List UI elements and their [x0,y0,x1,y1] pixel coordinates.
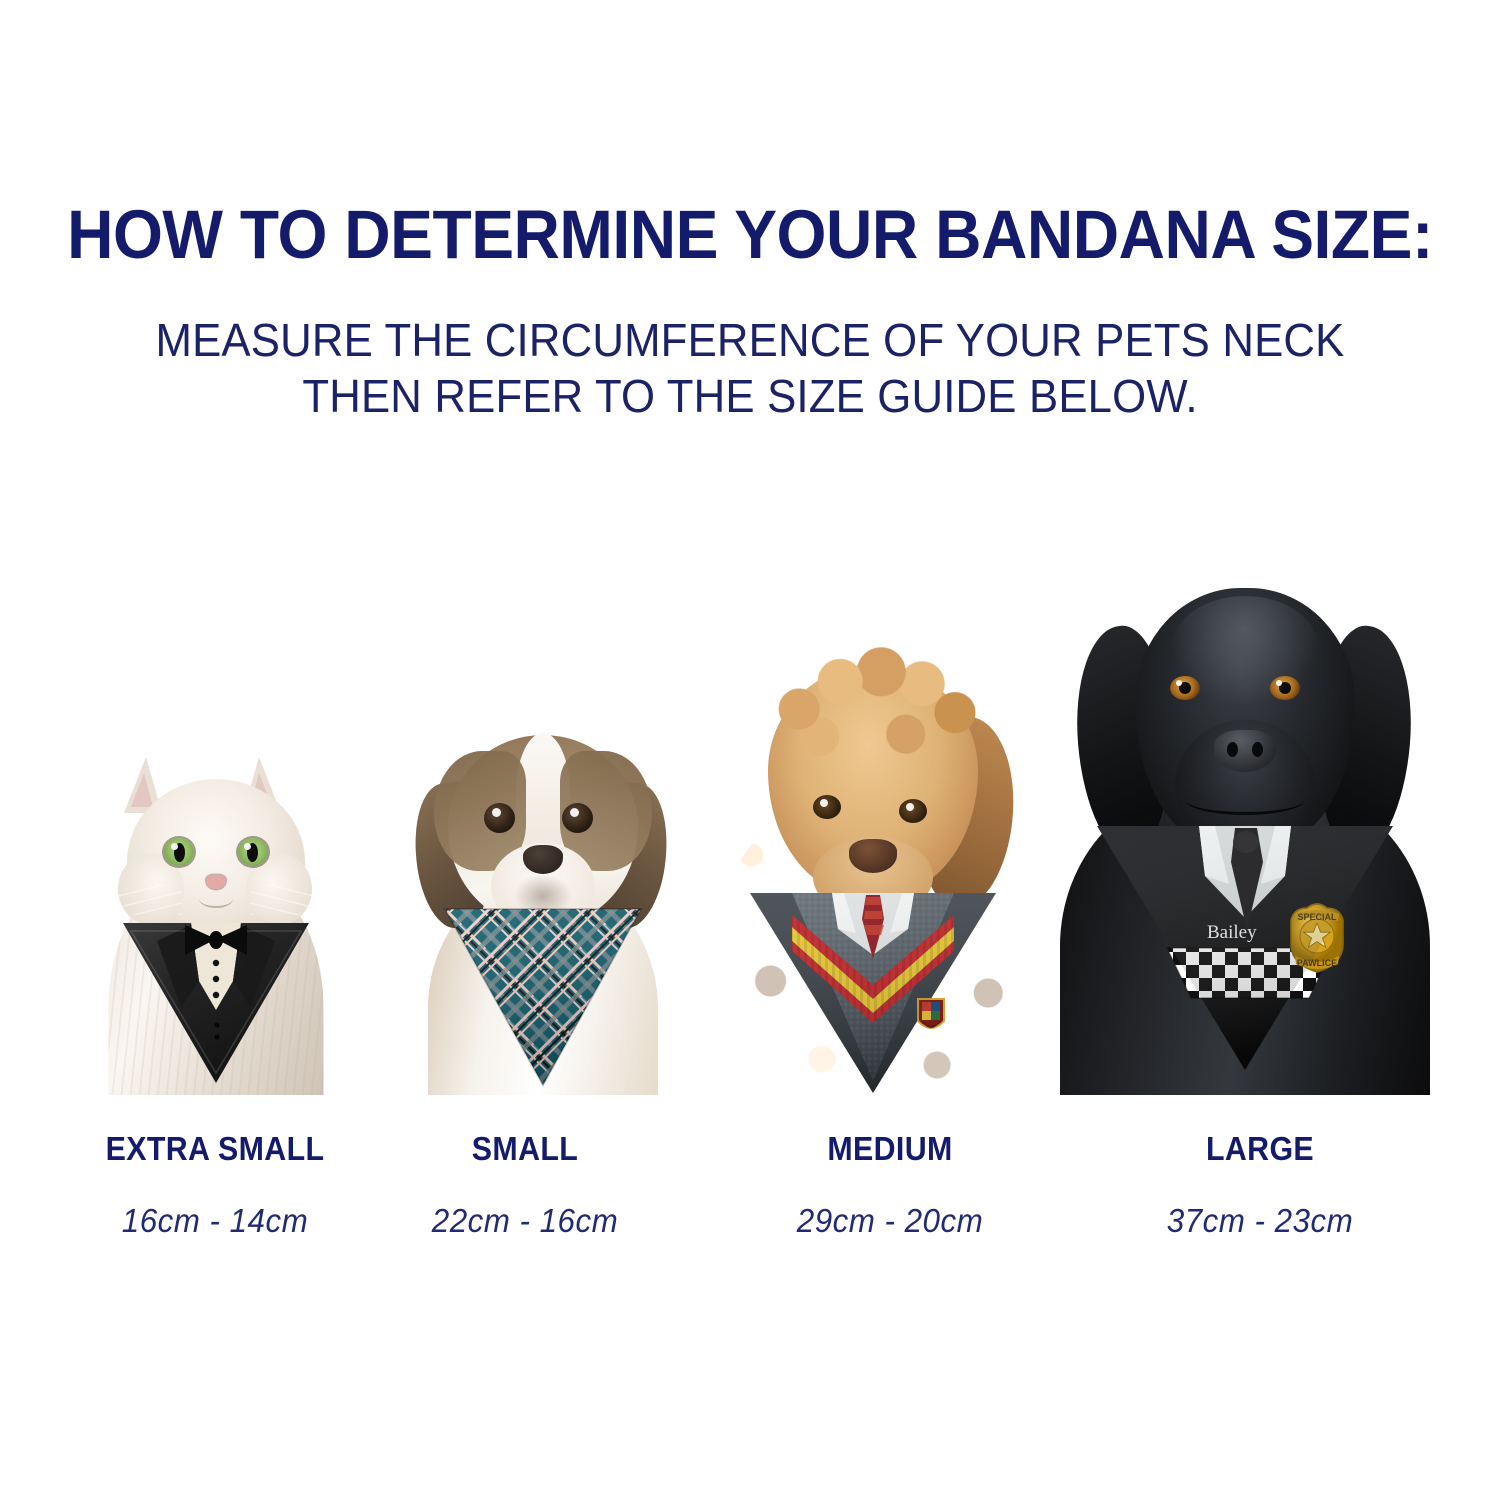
cat-whiskers-left [114,885,182,915]
lab-nostril-left [1227,742,1238,757]
size-range-large: 37cm - 23cm [1118,1202,1403,1240]
size-range-extra-small: 16cm - 14cm [73,1202,358,1240]
size-name-large: LARGE [1122,1130,1398,1168]
bandana-police: Bailey SPECIAL PAWLICE [1095,822,1395,1072]
size-name-extra-small: EXTRA SMALL [77,1130,353,1168]
size-label-extra-small: EXTRA SMALL 16cm - 14cm [65,1130,365,1240]
size-label-large: LARGE 37cm - 23cm [1110,1130,1410,1240]
lab-eye-glint-right [1276,680,1282,686]
size-label-row: EXTRA SMALL 16cm - 14cm SMALL 22cm - 16c… [0,1130,1500,1270]
puppy-eye-glint-right [570,808,579,817]
bandana-school-uniform [748,889,998,1095]
bandana-plaid-svg [443,905,643,1087]
size-label-small: SMALL 22cm - 16cm [375,1130,675,1240]
page-subtitle: MEASURE THE CIRCUMFERENCE OF YOUR PETS N… [38,312,1463,424]
bandana-police-svg: Bailey SPECIAL PAWLICE [1095,822,1395,1072]
bandana-tuxedo [121,915,311,1085]
cat-whiskers-right [250,885,318,915]
doodle-eye-glint-right [906,803,914,811]
cat-mouth [199,890,233,908]
lab-mouth-line [1186,786,1304,815]
size-name-small: SMALL [387,1130,663,1168]
lab-nostril-right [1252,742,1263,757]
page-title: HOW TO DETERMINE YOUR BANDANA SIZE: [53,200,1448,269]
doodle-topknot [771,643,976,763]
puppy-eye-right [562,803,593,833]
bandana-teal-plaid [443,905,643,1087]
bandana-uniform-svg [748,889,998,1095]
doodle-eye-right [899,799,927,823]
cat-eye-glint-right [244,843,251,850]
subtitle-line-2: THEN REFER TO THE SIZE GUIDE BELOW. [38,368,1463,424]
size-range-medium: 29cm - 20cm [748,1202,1033,1240]
cat-ear-left-inner [131,773,153,807]
bandana-tuxedo-svg [121,915,311,1085]
size-name-medium: MEDIUM [752,1130,1028,1168]
pet-photo-large: Bailey SPECIAL PAWLICE [1060,570,1430,1095]
pet-photo-medium [713,617,1033,1095]
lab-eye-glint-left [1176,680,1182,686]
size-label-medium: MEDIUM 29cm - 20cm [740,1130,1040,1240]
size-guide-page: HOW TO DETERMINE YOUR BANDANA SIZE: MEAS… [0,0,1500,1500]
puppy-eye-glint-left [492,808,501,817]
doodle-eye-glint-left [820,799,828,807]
cat-eye-glint-left [171,843,178,850]
subtitle-line-1: MEASURE THE CIRCUMFERENCE OF YOUR PETS N… [38,312,1463,368]
doodle-eye-left [813,795,841,819]
puppy-eye-left [484,803,515,833]
size-range-small: 22cm - 16cm [383,1202,668,1240]
pet-photo-extra-small [78,735,353,1095]
pet-photo-small [400,725,685,1095]
pet-photo-row: Bailey SPECIAL PAWLICE [0,540,1500,1095]
